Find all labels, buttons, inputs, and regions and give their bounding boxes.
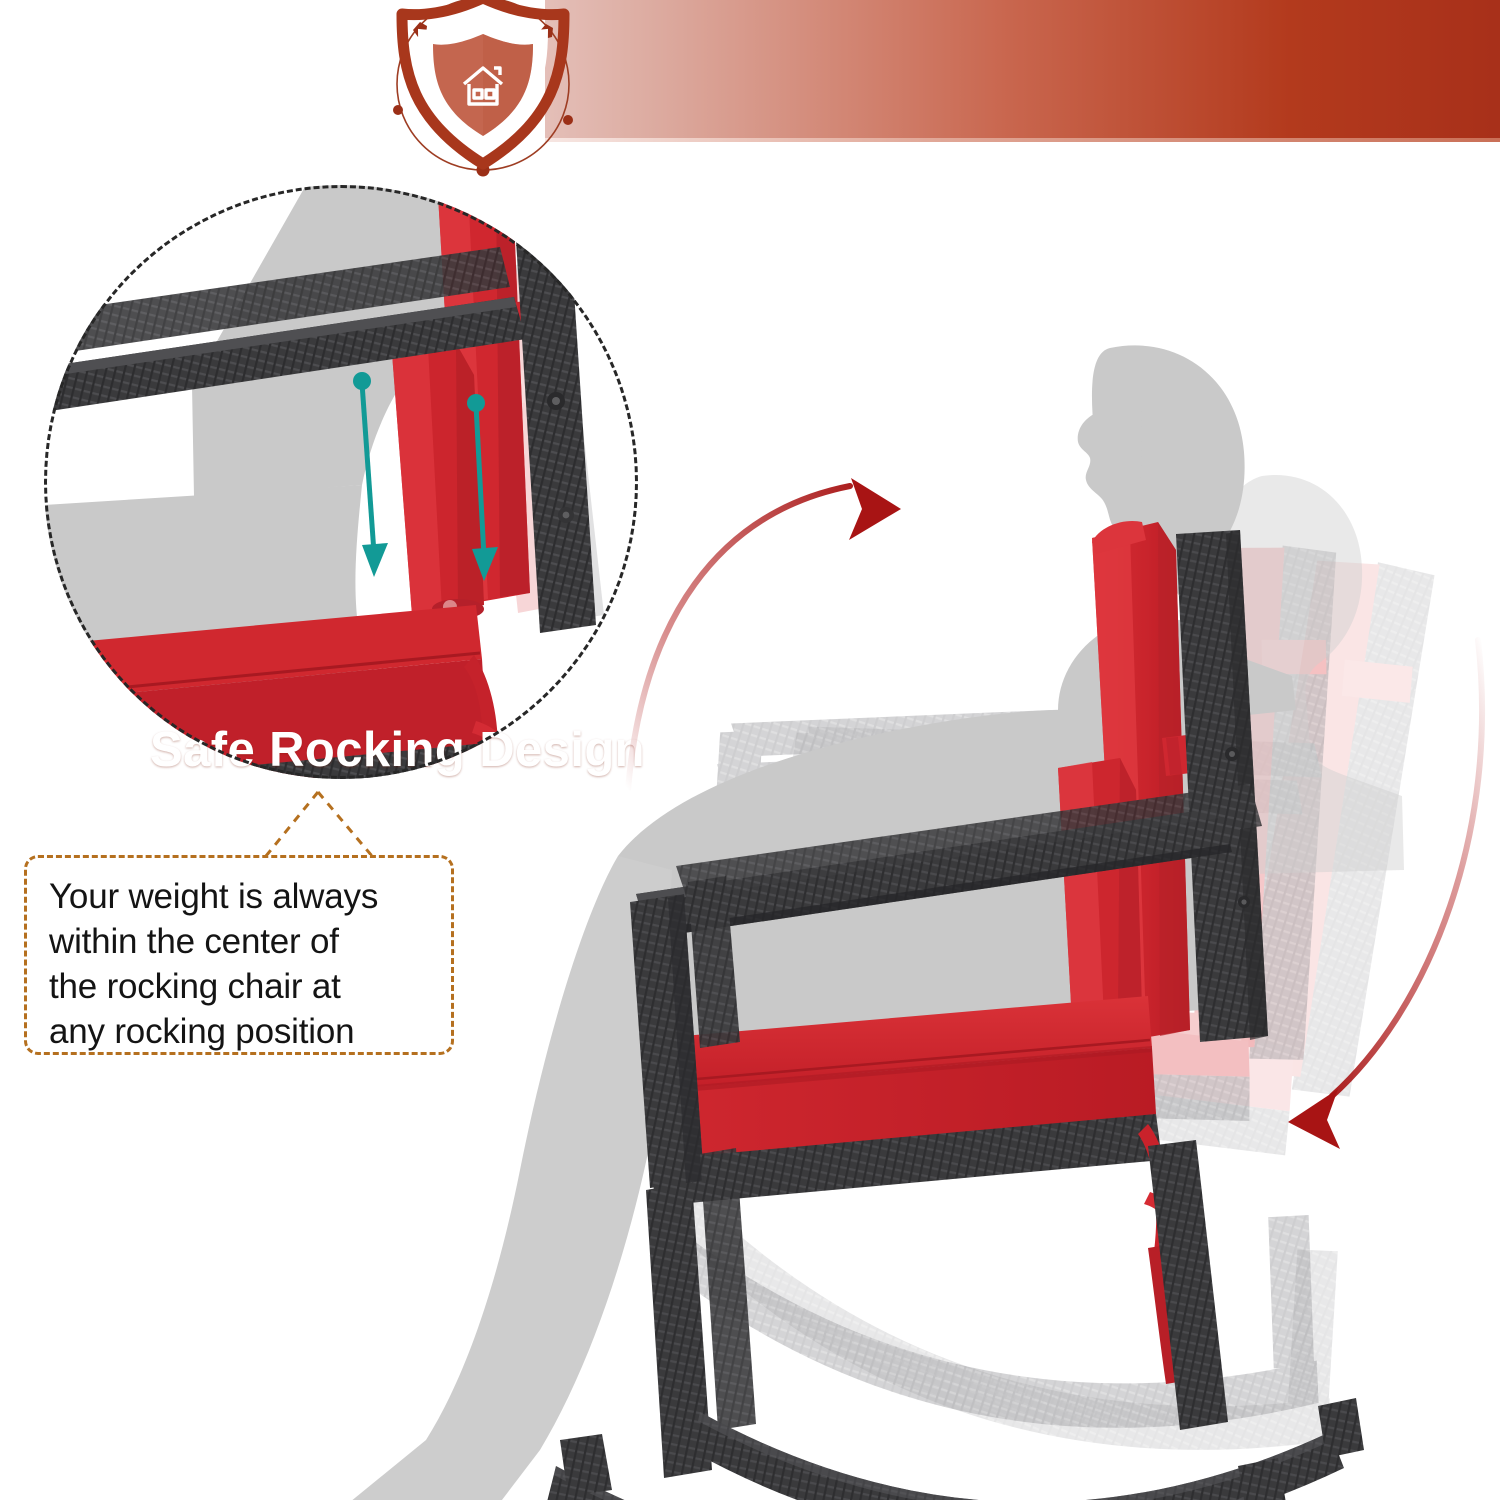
callout-text: Your weight is always within the center … (49, 874, 433, 1054)
callout-line-4: any rocking position (49, 1009, 433, 1054)
callout-line-1: Your weight is always (49, 874, 433, 919)
infographic-stage: Safe Rocking Design (0, 0, 1500, 1500)
page-title: Safe Rocking Design (150, 722, 645, 778)
callout-line-2: within the center of (49, 919, 433, 964)
callout-line-3: the rocking chair at (49, 964, 433, 1009)
header-banner (545, 0, 1500, 138)
zoom-detail-circle (44, 185, 638, 779)
callout-box: Your weight is always within the center … (24, 855, 454, 1055)
safety-shield-badge (378, 0, 588, 187)
side-bolster-cushion (1058, 758, 1142, 1026)
